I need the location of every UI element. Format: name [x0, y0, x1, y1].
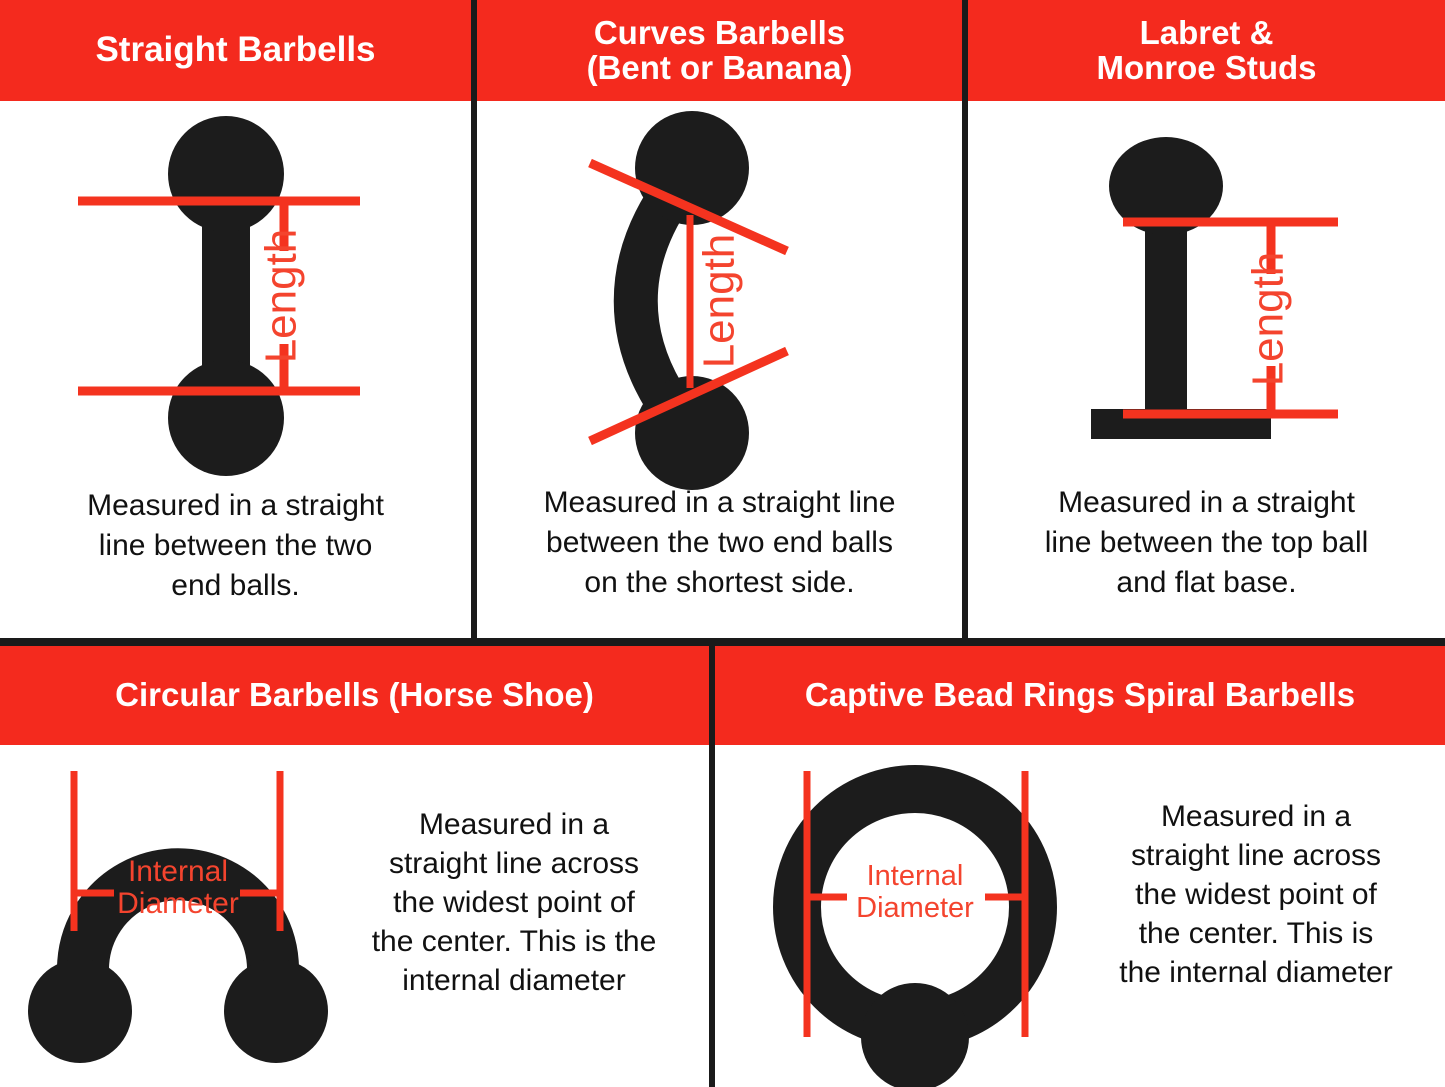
- divider-vertical-3: [709, 646, 715, 1087]
- header-line: Captive Bead Rings Spiral Barbells: [805, 678, 1355, 713]
- caption-line: end balls.: [0, 566, 471, 606]
- caption-line: the center. This is: [1070, 914, 1442, 953]
- panel-header-curved-barbells: Curves Barbells (Bent or Banana): [477, 0, 962, 101]
- panel-captive-bead-rings: Captive Bead Rings Spiral Barbells Inter…: [715, 646, 1445, 1087]
- barbell-bottom-ball: [168, 360, 284, 476]
- caption-line: the widest point of: [330, 883, 698, 922]
- header-line: (Bent or Banana): [587, 51, 853, 86]
- panel-header-captive-bead-rings: Captive Bead Rings Spiral Barbells: [715, 646, 1445, 745]
- divider-vertical-2: [962, 0, 968, 640]
- panel-body-labret-monroe-studs: Length Measured in a straight line betwe…: [968, 101, 1445, 638]
- caption-circular-barbells: Measured in a straight line across the w…: [330, 805, 698, 1000]
- panel-body-circular-barbells: Internal Diameter Measured in a straight…: [0, 745, 709, 1087]
- straight-barbell-drawing: Length: [30, 106, 450, 486]
- caption-line: the center. This is the: [330, 922, 698, 961]
- measure-label-length: Length: [695, 234, 744, 369]
- figure-straight-barbell: Length: [30, 106, 450, 486]
- curved-barbell-drawing: Length: [582, 111, 892, 496]
- measure-label-diameter: Diameter: [117, 887, 239, 920]
- caption-line: straight line across: [330, 844, 698, 883]
- caption-line: line between the two: [0, 526, 471, 566]
- figure-captive-bead-ring: Internal Diameter: [755, 747, 1085, 1082]
- panel-header-straight-barbells: Straight Barbells: [0, 0, 471, 101]
- captive-bead: [861, 983, 969, 1087]
- caption-line: Measured in a: [330, 805, 698, 844]
- caption-line: on the shortest side.: [477, 563, 962, 603]
- panel-body-straight-barbells: Length Measured in a straight line betwe…: [0, 101, 471, 638]
- panel-header-circular-barbells: Circular Barbells (Horse Shoe): [0, 646, 709, 745]
- caption-captive-bead-rings: Measured in a straight line across the w…: [1070, 797, 1442, 992]
- panel-labret-monroe-studs: Labret & Monroe Studs: [968, 0, 1445, 638]
- caption-labret-monroe-studs: Measured in a straight line between the …: [968, 483, 1445, 603]
- figure-labret-stud: Length: [1083, 126, 1413, 466]
- caption-line: Measured in a straight: [0, 486, 471, 526]
- caption-line: between the two end balls: [477, 523, 962, 563]
- horseshoe-right-ball: [224, 959, 328, 1063]
- panel-body-captive-bead-rings: Internal Diameter Measured in a straight…: [715, 745, 1445, 1087]
- caption-line: Measured in a: [1070, 797, 1442, 836]
- captive-bead-ring-drawing: Internal Diameter: [755, 747, 1085, 1082]
- caption-line: and flat base.: [968, 563, 1445, 603]
- measure-label-diameter: Diameter: [856, 892, 974, 924]
- measure-label-length: Length: [257, 229, 306, 364]
- panel-curved-barbells: Curves Barbells (Bent or Banana): [477, 0, 962, 638]
- figure-curved-barbell: Length: [582, 111, 892, 496]
- header-line: Circular Barbells (Horse Shoe): [115, 678, 594, 713]
- panel-body-curved-barbells: Length Measured in a straight line betwe…: [477, 101, 962, 638]
- caption-line: Measured in a straight: [968, 483, 1445, 523]
- measure-label-internal: Internal: [867, 860, 964, 892]
- header-line: Monroe Studs: [1097, 51, 1317, 86]
- caption-line: line between the top ball: [968, 523, 1445, 563]
- circular-barbell-drawing: Internal Diameter: [18, 753, 338, 1073]
- panel-straight-barbells: Straight Barbells: [0, 0, 471, 638]
- caption-line: Measured in a straight line: [477, 483, 962, 523]
- labret-stud-drawing: Length: [1083, 126, 1413, 466]
- horseshoe-left-ball: [28, 959, 132, 1063]
- caption-line: the internal diameter: [1070, 953, 1442, 992]
- divider-vertical-1: [471, 0, 477, 640]
- labret-post: [1145, 216, 1187, 411]
- header-line: Straight Barbells: [95, 32, 375, 69]
- caption-line: internal diameter: [330, 961, 698, 1000]
- divider-horizontal: [0, 638, 1445, 646]
- caption-line: the widest point of: [1070, 875, 1442, 914]
- caption-straight-barbells: Measured in a straight line between the …: [0, 486, 471, 606]
- infographic-root: Straight Barbells: [0, 0, 1445, 1087]
- header-line: Curves Barbells: [587, 16, 853, 51]
- barbell-top-ball: [168, 116, 284, 232]
- panel-circular-barbells: Circular Barbells (Horse Shoe) I: [0, 646, 709, 1087]
- header-line: Labret &: [1097, 16, 1317, 51]
- measure-label-internal: Internal: [128, 855, 228, 888]
- measure-label-length: Length: [1244, 252, 1293, 387]
- caption-line: straight line across: [1070, 836, 1442, 875]
- figure-circular-barbell: Internal Diameter: [18, 753, 338, 1073]
- caption-curved-barbells: Measured in a straight line between the …: [477, 483, 962, 603]
- panel-header-labret-monroe-studs: Labret & Monroe Studs: [968, 0, 1445, 101]
